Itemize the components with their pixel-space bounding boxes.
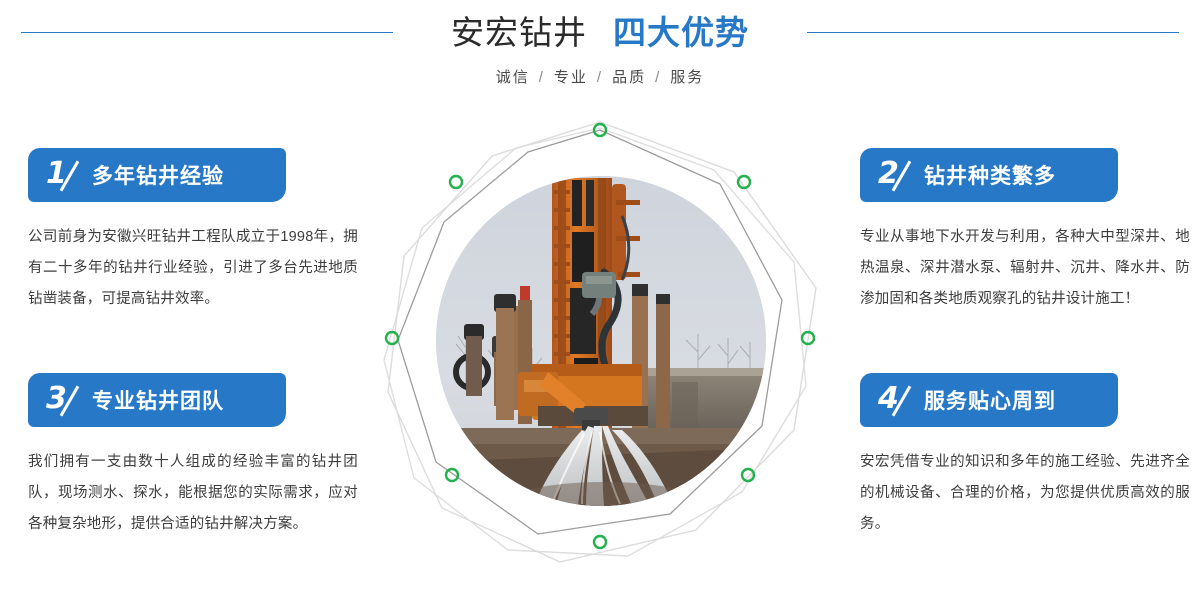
feature-card-4: 4 服务贴心周到 安宏凭借专业的知识和多年的施工经验、先进齐全的机械设备、合理的… <box>860 373 1190 540</box>
title-rule-right <box>807 32 1179 33</box>
number-2-icon: 2 <box>878 155 918 195</box>
subtitle-separator-1: / <box>539 69 545 86</box>
feature-card-2-body: 专业从事地下水开发与利用，各种大中型深井、地热温泉、深井潜水泵、辐射井、沉井、降… <box>860 222 1190 315</box>
center-graphic <box>370 110 830 580</box>
number-3-icon: 3 <box>46 380 86 420</box>
page-title: 安宏钻井四大优势 <box>451 16 749 49</box>
feature-card-3-body: 我们拥有一支由数十人组成的经验丰富的钻井团队，现场测水、探水，能根据您的实际需求… <box>28 447 358 540</box>
feature-card-4-title: 服务贴心周到 <box>924 385 1056 415</box>
page-header: 安宏钻井四大优势 诚信/专业/品质/服务 <box>0 0 1200 110</box>
page-title-highlight: 四大优势 <box>613 14 749 51</box>
number-1-icon: 1 <box>46 155 86 195</box>
feature-card-1-title: 多年钻井经验 <box>92 160 224 190</box>
feature-card-1-body: 公司前身为安徽兴旺钻井工程队成立于1998年，拥有二十多年的钻井行业经验，引进了… <box>28 222 358 315</box>
feature-card-4-header: 4 服务贴心周到 <box>860 373 1118 427</box>
feature-card-4-body: 安宏凭借专业的知识和多年的施工经验、先进齐全的机械设备、合理的价格，为您提供优质… <box>860 447 1190 540</box>
page-subtitle: 诚信/专业/品质/服务 <box>0 66 1200 87</box>
number-4-icon: 4 <box>878 380 918 420</box>
feature-card-2-header: 2 钻井种类繁多 <box>860 148 1118 202</box>
subtitle-item-2: 专业 <box>554 69 588 86</box>
subtitle-item-4: 服务 <box>670 69 704 86</box>
feature-card-3-header: 3 专业钻井团队 <box>28 373 286 427</box>
subtitle-separator-2: / <box>597 69 603 86</box>
drilling-rig-photo <box>436 176 766 506</box>
title-rule-left <box>21 32 393 33</box>
page-title-brand: 安宏钻井 <box>451 14 587 51</box>
subtitle-separator-3: / <box>655 69 661 86</box>
polygon-node-icon <box>594 536 606 548</box>
feature-card-2: 2 钻井种类繁多 专业从事地下水开发与利用，各种大中型深井、地热温泉、深井潜水泵… <box>860 148 1190 315</box>
feature-card-3: 3 专业钻井团队 我们拥有一支由数十人组成的经验丰富的钻井团队，现场测水、探水，… <box>28 373 358 540</box>
feature-card-1-header: 1 多年钻井经验 <box>28 148 286 202</box>
feature-card-1: 1 多年钻井经验 公司前身为安徽兴旺钻井工程队成立于1998年，拥有二十多年的钻… <box>28 148 358 315</box>
subtitle-item-1: 诚信 <box>496 69 530 86</box>
feature-card-3-title: 专业钻井团队 <box>92 385 224 415</box>
title-row: 安宏钻井四大优势 <box>0 8 1200 56</box>
subtitle-item-3: 品质 <box>612 69 646 86</box>
feature-card-2-title: 钻井种类繁多 <box>924 160 1056 190</box>
